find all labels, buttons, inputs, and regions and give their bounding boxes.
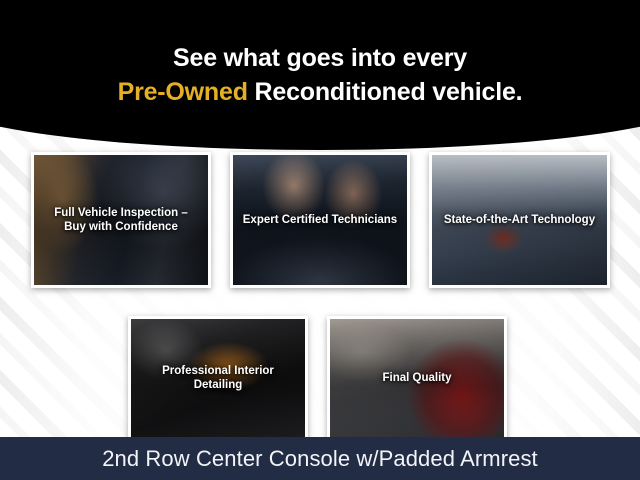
caption-bar: 2nd Row Center Console w/Padded Armrest: [0, 437, 640, 480]
headline-line-2: Pre-Owned Reconditioned vehicle.: [118, 77, 523, 108]
header-banner: See what goes into every Pre-Owned Recon…: [0, 0, 640, 150]
card-label: Expert Certified Technicians: [233, 213, 407, 227]
card-professional-interior-detailing[interactable]: Professional InteriorDetailing: [128, 316, 308, 440]
caption-text: 2nd Row Center Console w/Padded Armrest: [102, 446, 538, 472]
header-content: See what goes into every Pre-Owned Recon…: [0, 0, 640, 150]
card-state-of-the-art-technology[interactable]: State-of-the-Art Technology: [429, 152, 610, 288]
card-label: State-of-the-Art Technology: [432, 213, 607, 227]
card-label: Professional InteriorDetailing: [131, 364, 305, 392]
infographic-stage: See what goes into every Pre-Owned Recon…: [0, 0, 640, 480]
headline-line-1: See what goes into every: [173, 43, 467, 74]
card-final-quality[interactable]: Final Quality: [327, 316, 507, 440]
card-label: Full Vehicle Inspection –Buy with Confid…: [34, 206, 208, 234]
card-full-vehicle-inspection[interactable]: Full Vehicle Inspection –Buy with Confid…: [31, 152, 211, 288]
card-expert-certified-technicians[interactable]: Expert Certified Technicians: [230, 152, 410, 288]
card-label: Final Quality: [330, 371, 504, 385]
headline-highlight: Pre-Owned: [118, 78, 248, 106]
headline-rest: Reconditioned vehicle.: [248, 78, 523, 106]
